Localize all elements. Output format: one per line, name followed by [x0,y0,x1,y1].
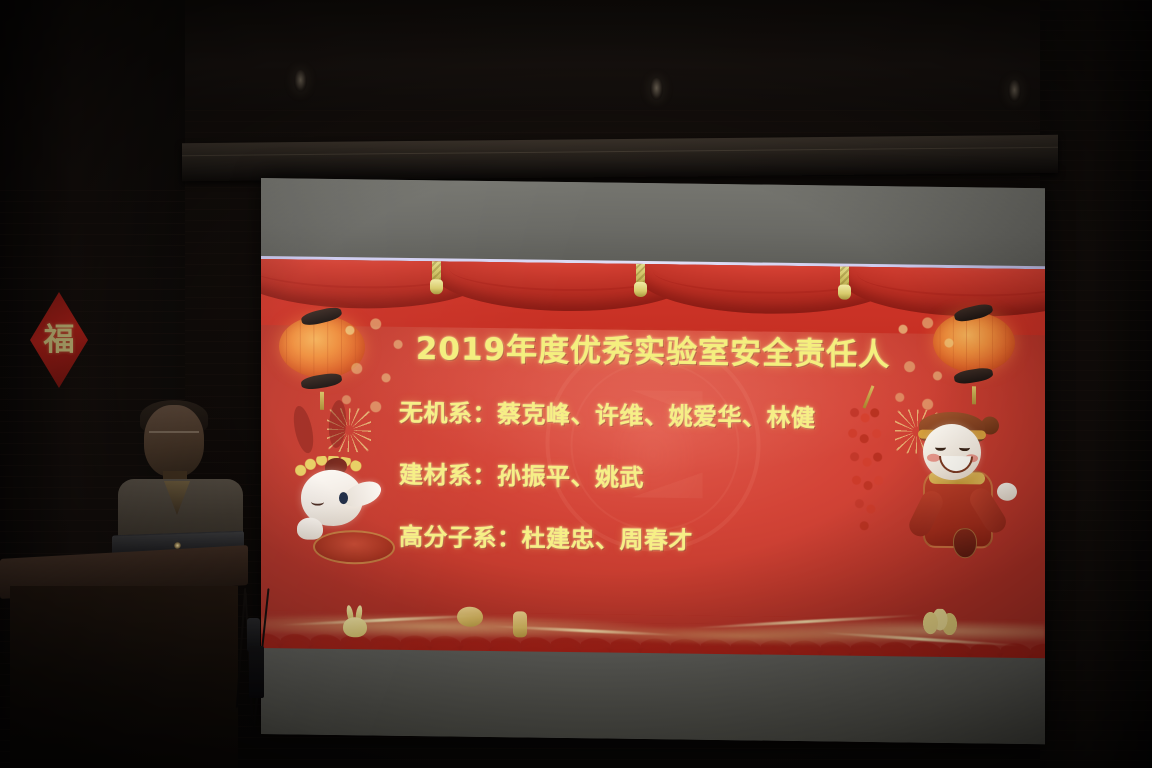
fu-character: 福 [44,325,75,356]
presentation-slide: 2019年度优秀实验室安全责任人 无机系：蔡克峰、许维、姚爱华、林健 建材系：孙… [261,259,1045,660]
slide-line-polymer: 高分子系：杜建忠、周春才 [399,517,1017,560]
glasses-icon [149,431,199,441]
gold-tassel-icon [634,260,647,300]
projection-screen: 2019年度优秀实验室安全责任人 无机系：蔡克峰、许维、姚爱华、林健 建材系：孙… [261,178,1045,744]
gold-orb-icon [513,611,527,637]
ceiling-light-icon [650,78,663,100]
screen-blank-bottom [261,648,1045,744]
presenter-head [144,405,204,477]
slide-line-inorganic: 无机系：蔡克峰、许维、姚爱华、林健 [399,393,1017,436]
gold-tassel-icon [838,263,851,303]
ceiling-light-icon [294,70,307,92]
bunny-character [289,411,399,562]
ceiling-light-icon [1008,80,1021,102]
slide-line-building-materials: 建材系：孙振平、姚武 [399,455,1017,498]
drum-icon [313,530,395,565]
gold-orb-icon [457,607,483,627]
screenshot-root: 福 [0,0,1152,768]
cable-connector [249,646,264,698]
gold-tassel-icon [430,259,443,297]
gold-leaf-icon [923,609,957,635]
slide-body: 无机系：蔡克峰、许维、姚爱华、林健 建材系：孙振平、姚武 高分子系：杜建忠、周春… [399,393,1017,587]
cable-bundle [232,588,274,738]
lectern [0,552,248,768]
screen-blank-top [261,178,1045,266]
small-rabbit-icon [339,605,369,637]
lectern-front [10,586,238,768]
right-wall [1040,0,1152,768]
